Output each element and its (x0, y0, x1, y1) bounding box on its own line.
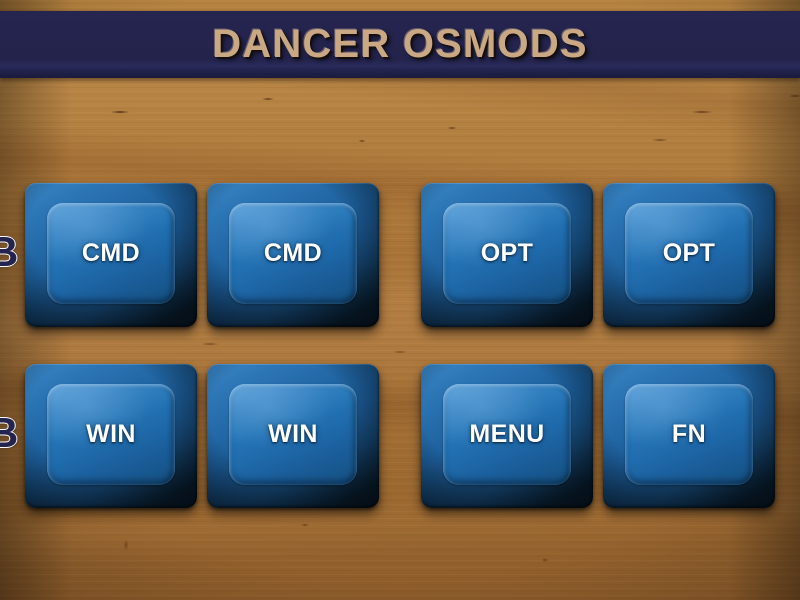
key-menu[interactable]: MENU (421, 364, 593, 508)
page-title: DANCER OSMODS (212, 22, 588, 67)
key-win-right[interactable]: WIN (207, 364, 379, 508)
key-cmd-right[interactable]: CMD (207, 183, 379, 327)
edge-label-row-2: B (0, 409, 18, 457)
key-label: OPT (481, 239, 534, 268)
key-face: WIN (229, 384, 356, 485)
key-label: WIN (86, 420, 136, 449)
key-face: WIN (47, 384, 174, 485)
key-cmd-left[interactable]: CMD (25, 183, 197, 327)
key-label: CMD (264, 239, 322, 268)
key-face: CMD (47, 203, 174, 304)
key-face: FN (625, 384, 752, 485)
key-opt-right[interactable]: OPT (603, 183, 775, 327)
key-fn[interactable]: FN (603, 364, 775, 508)
osmods-screen: DANCER OSMODS B B CMD CMD OPT OPT WIN WI… (0, 0, 800, 600)
key-win-left[interactable]: WIN (25, 364, 197, 508)
key-opt-left[interactable]: OPT (421, 183, 593, 327)
key-face: MENU (443, 384, 570, 485)
key-face: CMD (229, 203, 356, 304)
edge-label-row-1: B (0, 228, 18, 276)
key-label: WIN (268, 420, 318, 449)
title-bar: DANCER OSMODS (0, 11, 800, 78)
key-label: MENU (469, 420, 544, 449)
key-label: FN (672, 420, 706, 449)
key-label: CMD (82, 239, 140, 268)
key-face: OPT (443, 203, 570, 304)
key-label: OPT (663, 239, 716, 268)
key-face: OPT (625, 203, 752, 304)
